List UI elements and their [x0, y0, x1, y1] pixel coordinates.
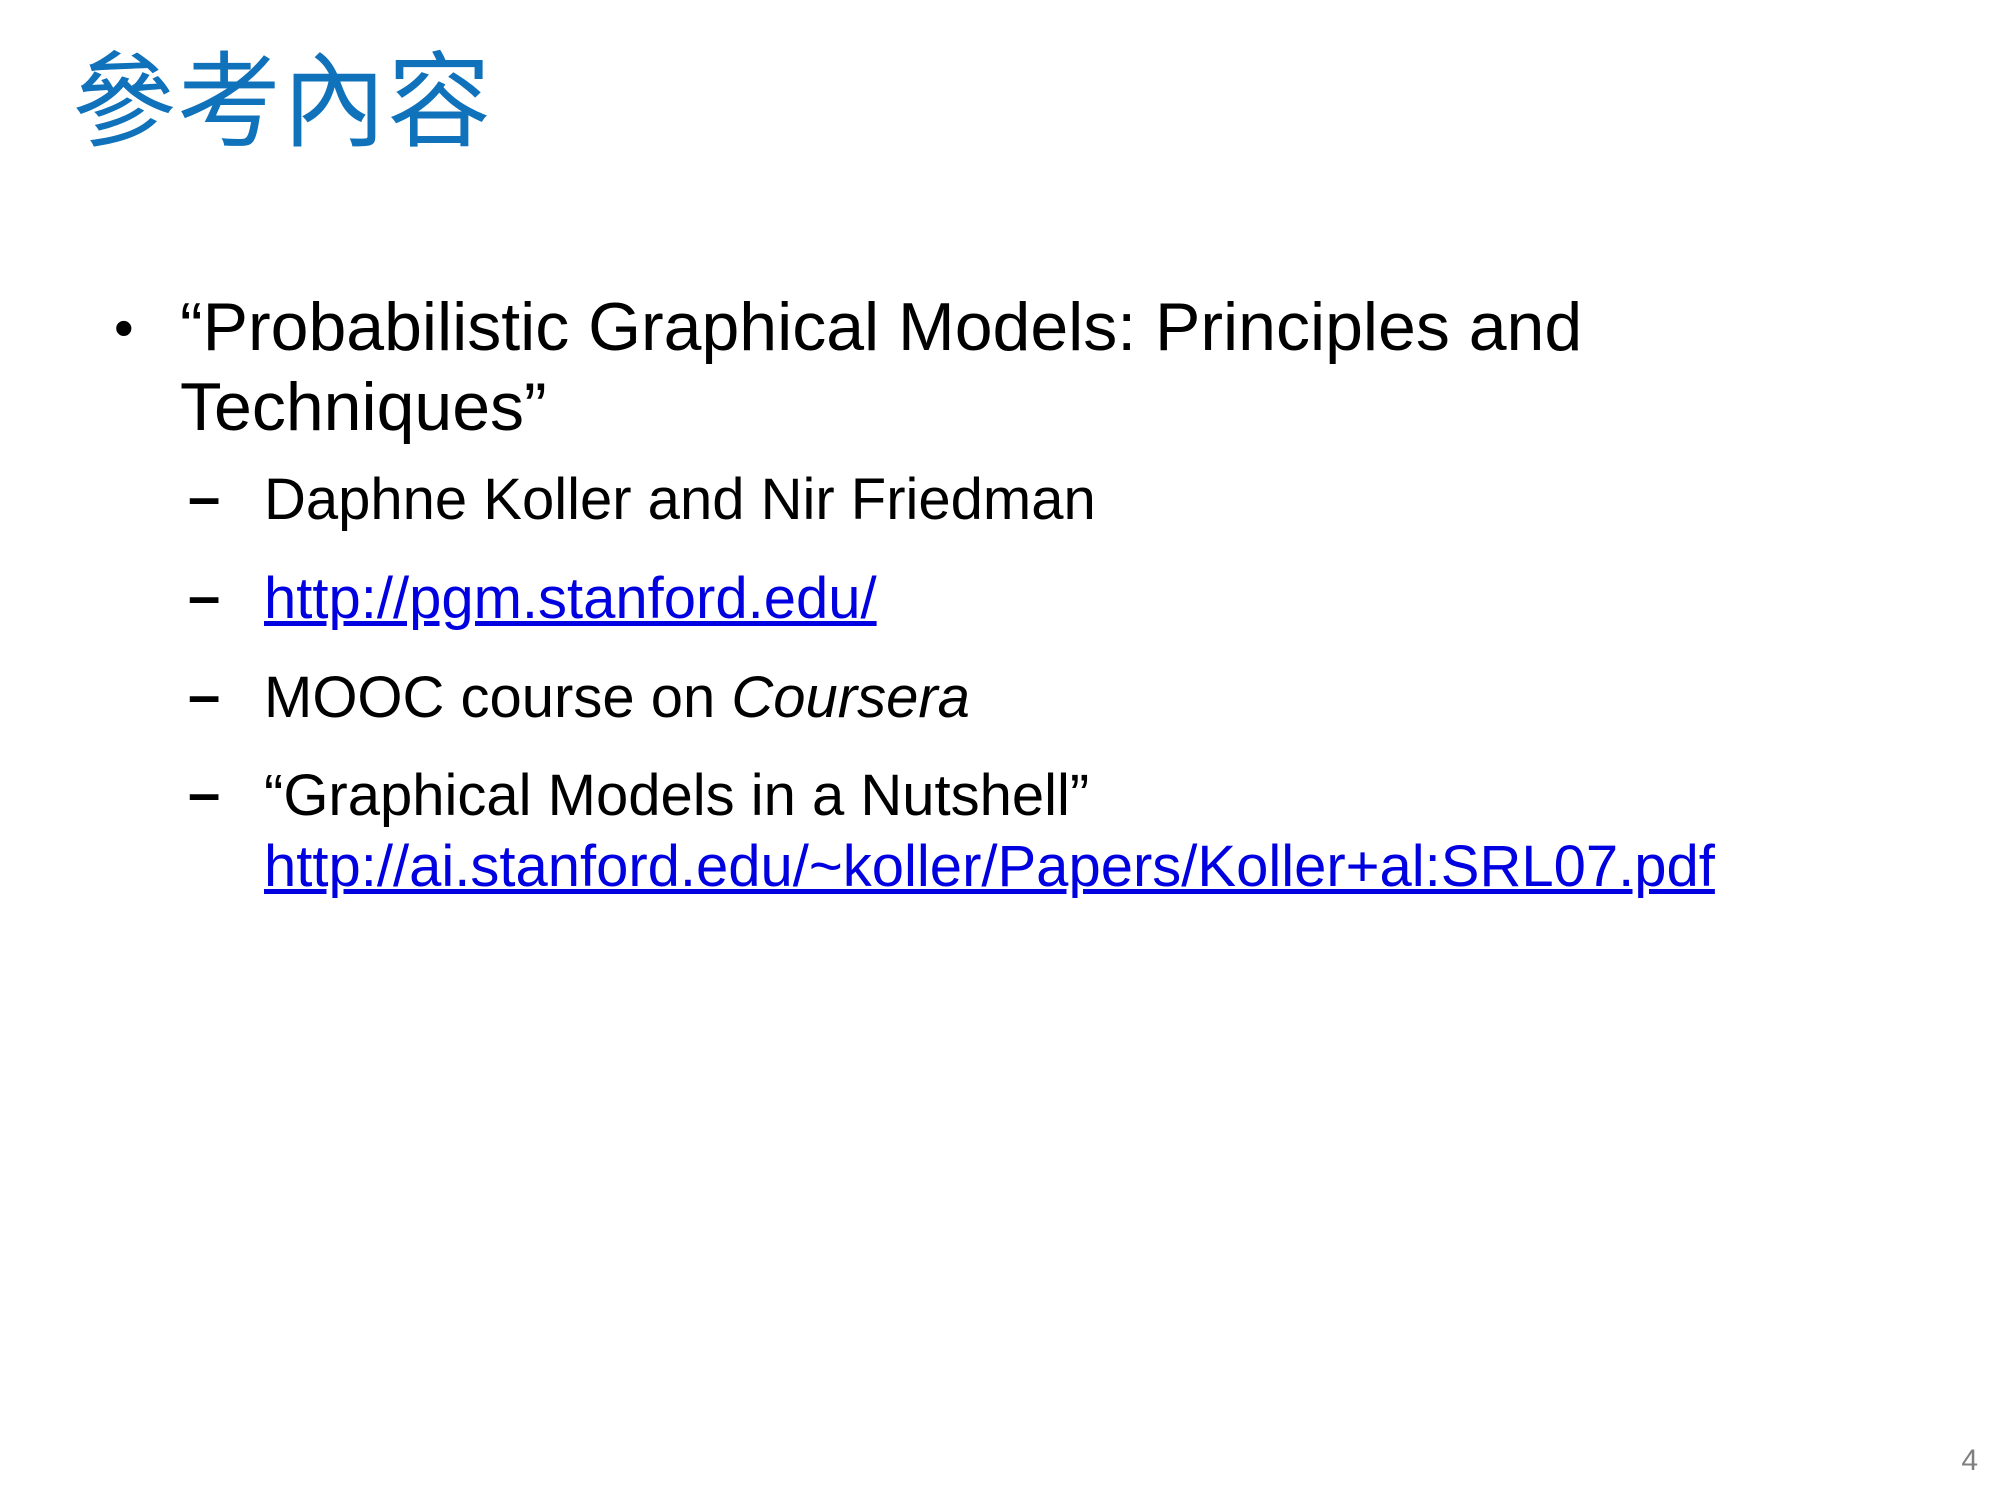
list-item-nutshell: – “Graphical Models in a Nutshell” http:…: [180, 761, 1926, 903]
bullet-list-level2: – Daphne Koller and Nir Friedman – http:…: [180, 465, 1926, 903]
link-pgm-stanford[interactable]: http://pgm.stanford.edu/: [264, 566, 877, 631]
bullet-dash-icon: –: [188, 562, 220, 633]
bullet-list-level1: • “Probabilistic Graphical Models: Princ…: [96, 288, 1926, 903]
bullet-dot-icon: •: [114, 288, 134, 368]
bullet-dash-icon: –: [188, 759, 220, 830]
main-reference-text: “Probabilistic Graphical Models: Princip…: [180, 288, 1870, 447]
nutshell-text: “Graphical Models in a Nutshell” http://…: [264, 761, 1926, 903]
main-reference-line2: Techniques”: [180, 369, 547, 445]
bullet-dash-icon: –: [188, 463, 220, 534]
list-item-authors: – Daphne Koller and Nir Friedman: [180, 465, 1926, 536]
page-title: 參考內容: [72, 44, 492, 164]
mooc-platform-name: Coursera: [731, 665, 970, 730]
slide-number: 4: [1961, 1444, 1978, 1478]
list-item-pgm-site: – http://pgm.stanford.edu/: [180, 564, 1926, 635]
link-koller-nutshell-pdf[interactable]: http://ai.stanford.edu/~koller/Papers/Ko…: [264, 834, 1715, 899]
list-item-main-reference: • “Probabilistic Graphical Models: Princ…: [96, 288, 1926, 903]
pgm-site-text: http://pgm.stanford.edu/: [264, 564, 1926, 635]
bullet-dash-icon: –: [188, 661, 220, 732]
mooc-prefix: MOOC course on: [264, 665, 731, 730]
main-reference-line1: “Probabilistic Graphical Models: Princip…: [180, 289, 1582, 365]
slide-canvas: 參考內容 • “Probabilistic Graphical Models: …: [0, 0, 2000, 1500]
nutshell-title: “Graphical Models in a Nutshell”: [264, 763, 1089, 828]
list-item-mooc: – MOOC course on Coursera: [180, 663, 1926, 734]
slide-body: • “Probabilistic Graphical Models: Princ…: [96, 288, 1926, 909]
authors-text: Daphne Koller and Nir Friedman: [264, 465, 1926, 536]
mooc-text: MOOC course on Coursera: [264, 663, 1926, 734]
